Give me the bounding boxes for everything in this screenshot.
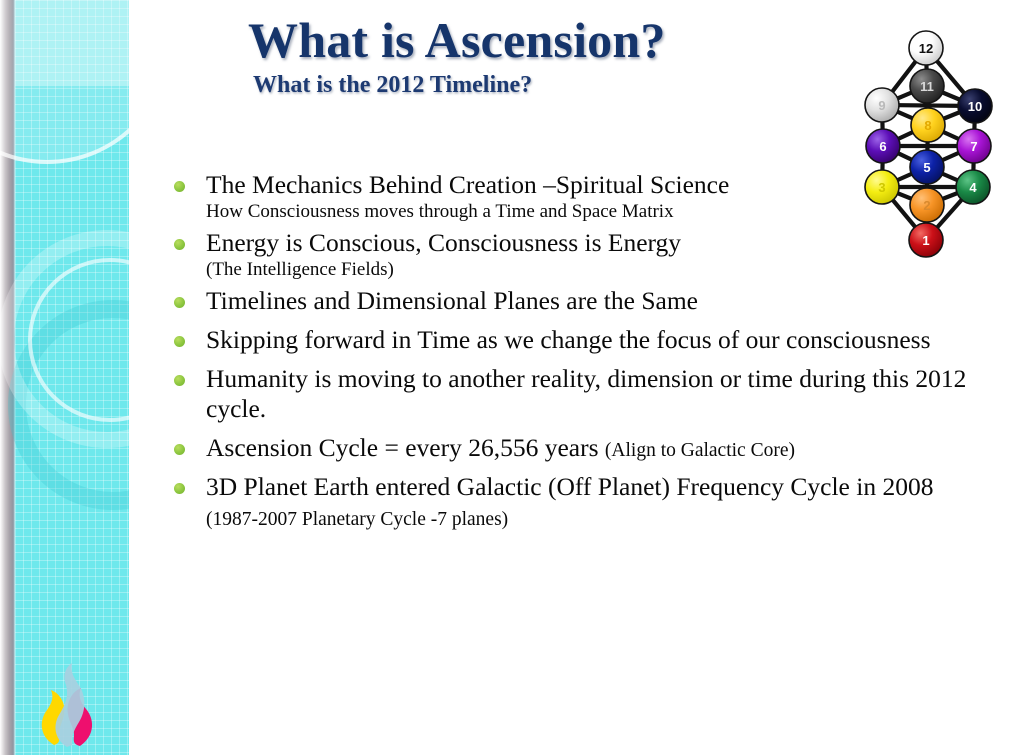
tree-node-label: 4: [969, 180, 977, 195]
page-subtitle: What is the 2012 Timeline?: [253, 72, 848, 99]
tree-node-2: 2: [910, 188, 944, 222]
bullet-text-wrapper: 3D Planet Earth entered Galactic (Off Pl…: [206, 472, 968, 532]
tree-node-6: 6: [866, 129, 900, 163]
tree-node-label: 6: [879, 139, 886, 154]
list-item: The Mechanics Behind Creation –Spiritual…: [168, 170, 968, 224]
tree-node-label: 8: [924, 118, 931, 133]
bullet-text: Humanity is moving to another reality, d…: [206, 364, 968, 424]
tree-node-4: 4: [956, 170, 990, 204]
tree-node-label: 12: [919, 41, 933, 56]
bullet-marker-icon: [174, 336, 185, 347]
list-item: Energy is Conscious, Consciousness is En…: [168, 228, 968, 282]
bullet-inline-note: (1987-2007 Planetary Cycle -7 planes): [206, 509, 508, 530]
bullet-marker-icon: [174, 297, 185, 308]
tri-color-flame-logo: [28, 661, 106, 747]
tree-of-life-diagram: 121191086753421: [852, 18, 1017, 268]
list-item: 3D Planet Earth entered Galactic (Off Pl…: [168, 472, 968, 532]
tree-node-label: 3: [878, 180, 885, 195]
tree-node-label: 11: [920, 79, 934, 94]
bullet-text: Skipping forward in Time as we change th…: [206, 325, 968, 355]
list-item: Ascension Cycle = every 26,556 years (Al…: [168, 433, 968, 463]
bullet-marker-icon: [174, 375, 185, 386]
tree-node-label: 9: [878, 98, 885, 113]
list-item: Humanity is moving to another reality, d…: [168, 364, 968, 424]
page-title: What is Ascension?: [248, 14, 848, 67]
bullet-marker-icon: [174, 239, 185, 250]
list-item: Skipping forward in Time as we change th…: [168, 325, 968, 355]
title-block: What is Ascension? What is the 2012 Time…: [248, 14, 848, 99]
bullet-text: 3D Planet Earth entered Galactic (Off Pl…: [206, 472, 933, 501]
slide-canvas: What is Ascension? What is the 2012 Time…: [0, 0, 1029, 755]
bullet-text-wrapper: Ascension Cycle = every 26,556 years (Al…: [206, 433, 968, 463]
bullet-marker-icon: [174, 483, 185, 494]
list-item: Timelines and Dimensional Planes are the…: [168, 286, 968, 316]
tree-node-3: 3: [865, 170, 899, 204]
bullet-text: Timelines and Dimensional Planes are the…: [206, 286, 968, 316]
tree-node-label: 5: [923, 160, 930, 175]
bullet-marker-icon: [174, 444, 185, 455]
tree-node-label: 1: [922, 233, 929, 248]
decorative-circle-top: [0, 0, 129, 164]
tree-node-9: 9: [865, 88, 899, 122]
tree-node-7: 7: [957, 129, 991, 163]
tree-node-11: 11: [910, 69, 944, 103]
tree-node-5: 5: [910, 150, 944, 184]
decorative-sidebar: [0, 0, 129, 755]
tree-node-label: 7: [970, 139, 977, 154]
tree-node-10: 10: [958, 89, 992, 123]
tree-node-label: 10: [968, 99, 982, 114]
tree-node-1: 1: [909, 223, 943, 257]
tree-node-label: 2: [923, 198, 930, 213]
bullet-marker-icon: [174, 181, 185, 192]
bullet-list: The Mechanics Behind Creation –Spiritual…: [168, 170, 968, 541]
bullet-inline-note: (Align to Galactic Core): [605, 440, 795, 461]
tree-node-12: 12: [909, 31, 943, 65]
tree-node-8: 8: [911, 108, 945, 142]
bullet-text: Ascension Cycle = every 26,556 years: [206, 433, 605, 462]
